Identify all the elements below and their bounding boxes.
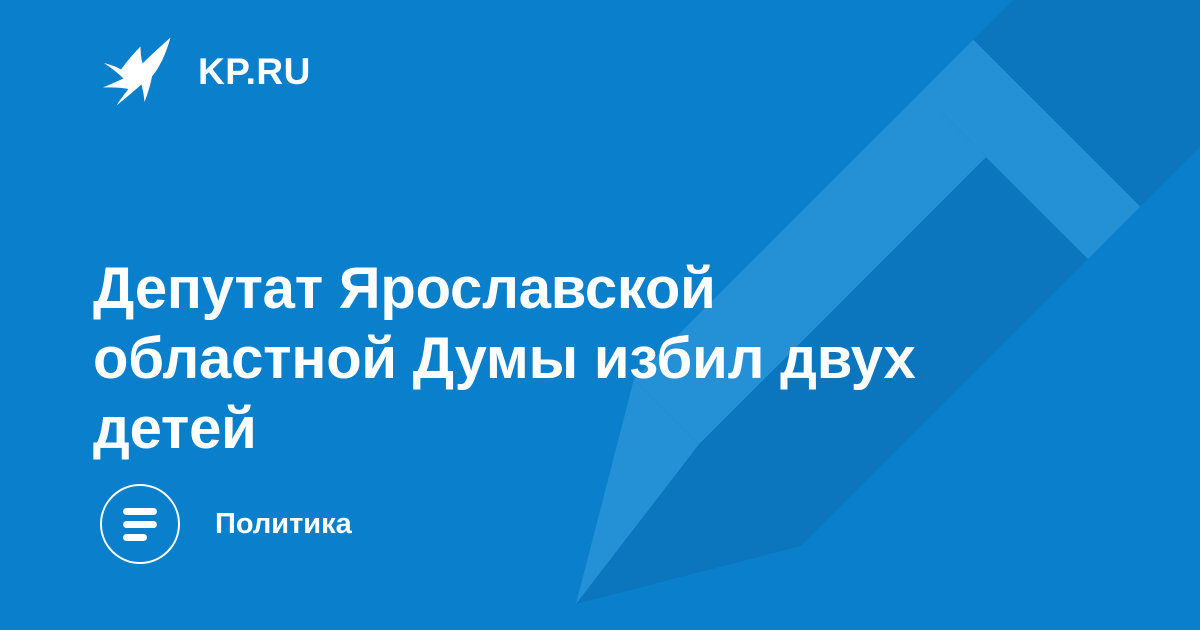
share-card: KP.RU Депутат Ярославской областной Думы…: [0, 0, 1200, 630]
brand-wordmark: KP.RU: [198, 53, 311, 90]
list-lines-icon[interactable]: [100, 484, 180, 564]
headline-text: Депутат Ярославской областной Думы избил…: [93, 254, 1023, 464]
list-line-2: [123, 521, 157, 528]
pencil-cap-round: [961, 0, 1200, 219]
swallow-bird-icon: [100, 35, 174, 107]
pencil-eraser-cap: [1030, 0, 1200, 150]
rubric-block[interactable]: Политика: [100, 484, 352, 564]
pencil-ferrule: [921, 40, 1140, 259]
brand-logo[interactable]: KP.RU: [100, 35, 311, 107]
rubric-label: Политика: [215, 510, 352, 539]
list-line-1: [123, 508, 157, 515]
list-line-3: [123, 534, 147, 541]
